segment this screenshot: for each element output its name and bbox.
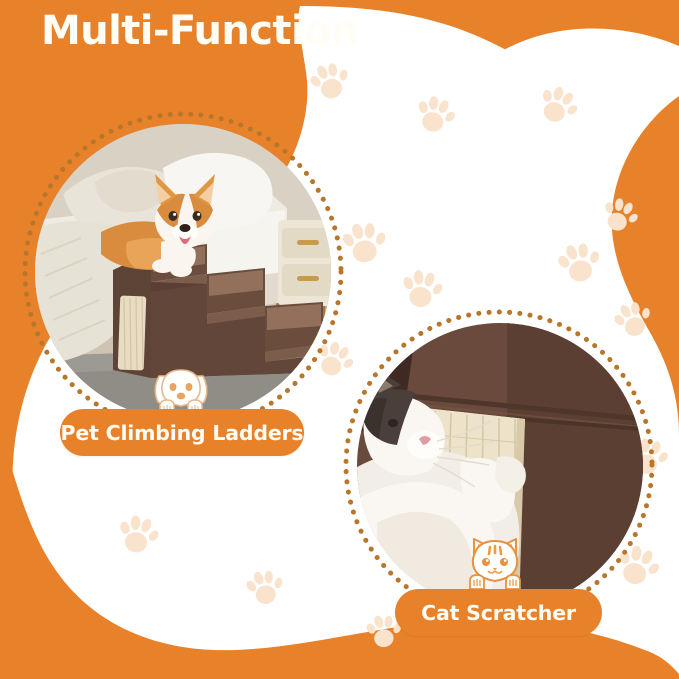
badge-cat-scratcher[interactable]: Cat Scratcher: [395, 589, 602, 636]
cat-face-icon: [464, 535, 526, 591]
page-title: Multi-Function: [41, 8, 359, 54]
badge-label-cat-scratcher: Cat Scratcher: [421, 601, 576, 625]
multi-function-feature-card: Pet Climbing Ladders: [0, 0, 679, 679]
